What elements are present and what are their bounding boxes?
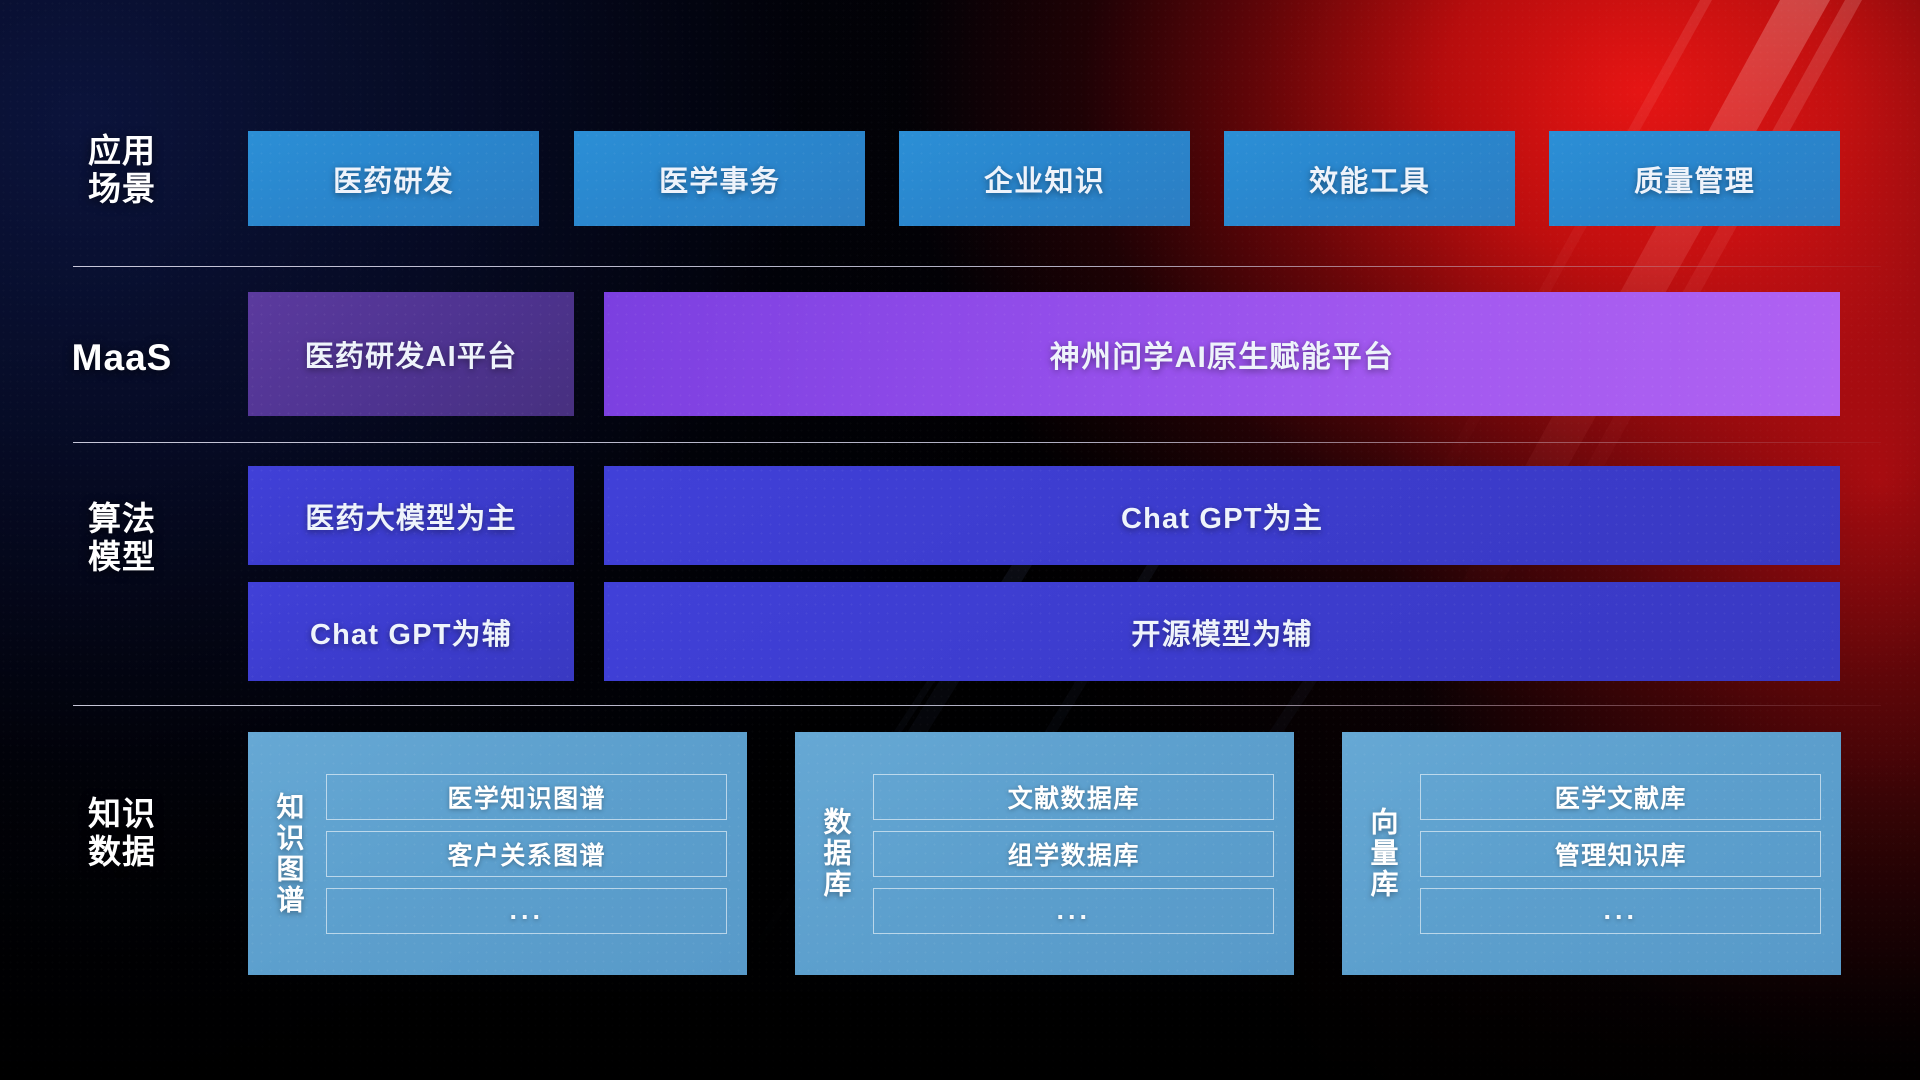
knowledge-item[interactable]: 医学知识图谱 xyxy=(326,774,727,820)
divider-maas-algorithm xyxy=(73,442,1881,443)
knowledge-panel-database-items: 文献数据库 组学数据库 ... xyxy=(873,774,1274,934)
row-label-algorithm: 算法 模型 xyxy=(62,500,182,575)
app-cell-5[interactable]: 质量管理 xyxy=(1549,131,1840,226)
knowledge-panel-graph[interactable]: 知识图谱 医学知识图谱 客户关系图谱 ... xyxy=(248,732,747,975)
knowledge-panel-vector[interactable]: 向量库 医学文献库 管理知识库 ... xyxy=(1342,732,1841,975)
maas-cell-enablement-platform[interactable]: 神州问学AI原生赋能平台 xyxy=(604,292,1840,416)
knowledge-item[interactable]: 客户关系图谱 xyxy=(326,831,727,877)
app-cell-3[interactable]: 企业知识 xyxy=(899,131,1190,226)
row-label-knowledge: 知识 数据 xyxy=(62,795,182,870)
app-cell-2[interactable]: 医学事务 xyxy=(574,131,865,226)
maas-cell-platform[interactable]: 医药研发AI平台 xyxy=(248,292,574,416)
app-cell-1[interactable]: 医药研发 xyxy=(248,131,539,226)
divider-algorithm-knowledge xyxy=(73,705,1881,706)
knowledge-item-more[interactable]: ... xyxy=(1420,888,1821,934)
knowledge-item-more[interactable]: ... xyxy=(873,888,1274,934)
divider-application-maas xyxy=(73,266,1881,267)
knowledge-item[interactable]: 管理知识库 xyxy=(1420,831,1821,877)
knowledge-item[interactable]: 医学文献库 xyxy=(1420,774,1821,820)
row-label-application: 应用 场景 xyxy=(62,132,182,207)
app-cell-4[interactable]: 效能工具 xyxy=(1224,131,1515,226)
knowledge-item[interactable]: 文献数据库 xyxy=(873,774,1274,820)
row-label-maas: MaaS xyxy=(62,337,182,379)
algo-cell-primary-left[interactable]: 医药大模型为主 xyxy=(248,466,574,565)
knowledge-panel-vector-title: 向量库 xyxy=(1366,807,1398,900)
knowledge-panel-graph-items: 医学知识图谱 客户关系图谱 ... xyxy=(326,774,727,934)
knowledge-panel-graph-title: 知识图谱 xyxy=(272,792,304,916)
architecture-diagram: 应用 场景 医药研发 医学事务 企业知识 效能工具 质量管理 MaaS 医药研发… xyxy=(0,0,1920,1080)
algo-cell-secondary-right[interactable]: 开源模型为辅 xyxy=(604,582,1840,681)
knowledge-panel-vector-items: 医学文献库 管理知识库 ... xyxy=(1420,774,1821,934)
algo-cell-secondary-left[interactable]: Chat GPT为辅 xyxy=(248,582,574,681)
knowledge-panel-database-title: 数据库 xyxy=(819,807,851,900)
algo-cell-primary-right[interactable]: Chat GPT为主 xyxy=(604,466,1840,565)
knowledge-panel-database[interactable]: 数据库 文献数据库 组学数据库 ... xyxy=(795,732,1294,975)
knowledge-item[interactable]: 组学数据库 xyxy=(873,831,1274,877)
knowledge-item-more[interactable]: ... xyxy=(326,888,727,934)
